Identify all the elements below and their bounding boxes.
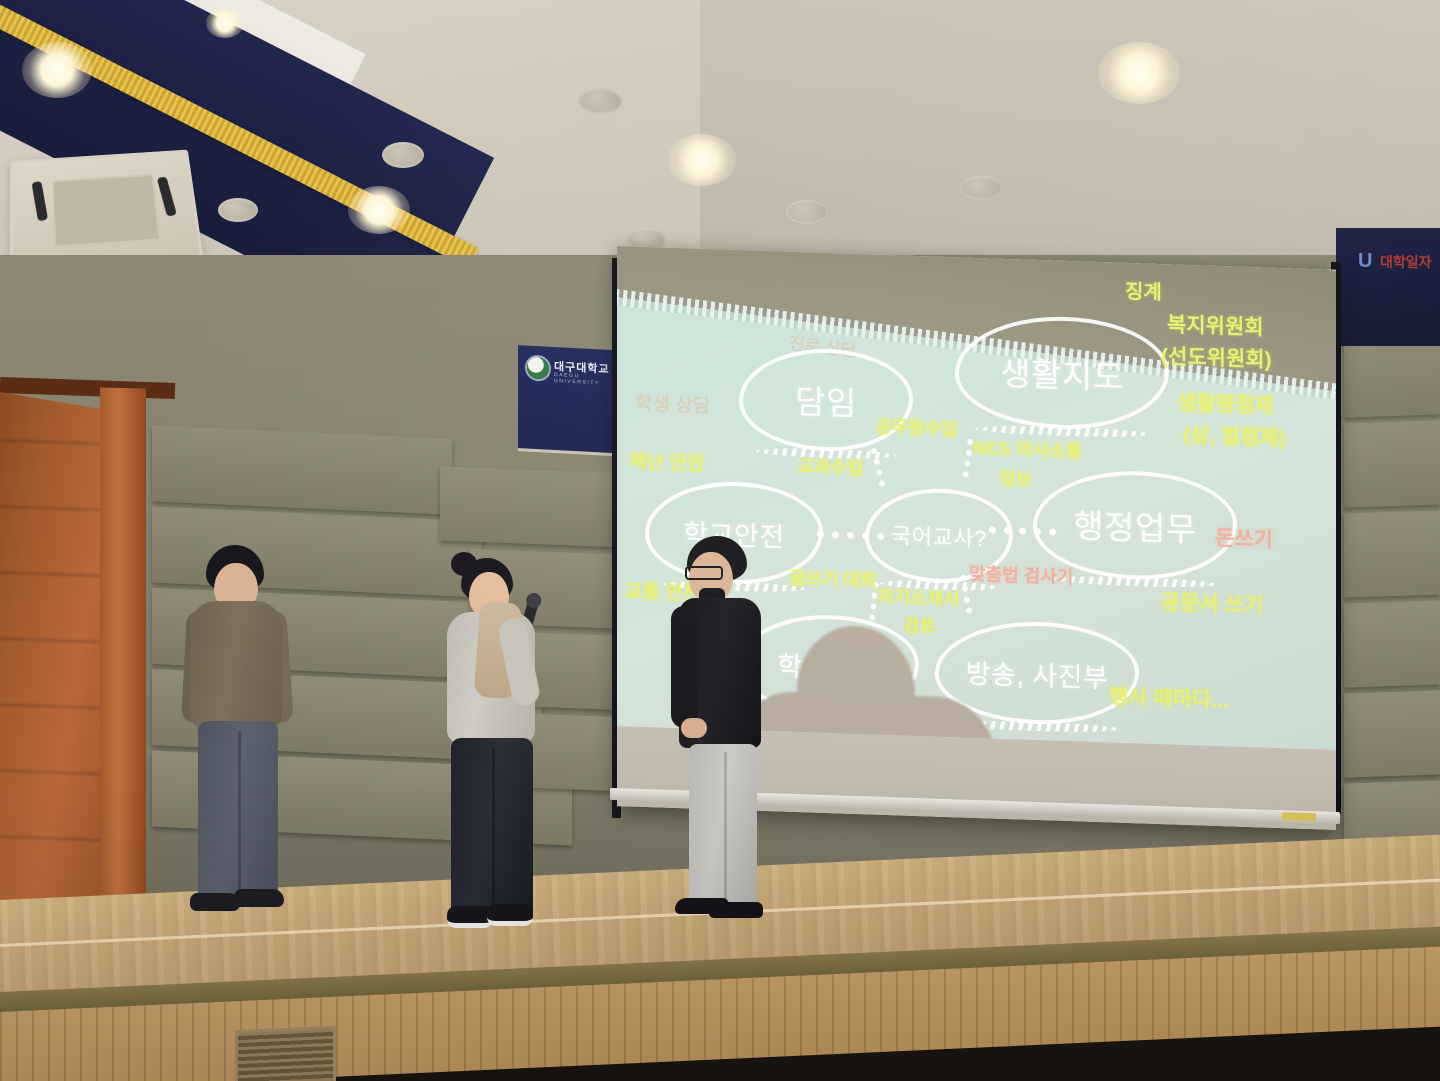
ceiling-speaker: [382, 142, 424, 168]
u-logo-icon: U: [1358, 250, 1372, 273]
bubble-label: 행정업무: [1073, 499, 1196, 551]
shoe-right: [234, 889, 284, 907]
wall-panel: [152, 425, 452, 515]
wall-panel: [1344, 420, 1440, 507]
presenter-left: [190, 545, 290, 925]
slide-note-jaenan-anjeon: 재난 안전: [629, 446, 704, 475]
ceiling-speaker: [578, 88, 622, 114]
light-jeans: [689, 744, 757, 906]
connector-dotted-horizontal: [817, 531, 884, 540]
ceiling-speaker: [960, 176, 1002, 200]
bubble-label: 방송, 사진부: [966, 651, 1109, 695]
bubble-label: 담임: [795, 375, 857, 425]
banner-right-title: 대학일자: [1380, 252, 1432, 272]
wall-panel: [1344, 510, 1440, 597]
slide-note-bokji-wiwonhoe: 복지위원회: [1167, 308, 1264, 341]
cargo-pants: [451, 738, 533, 920]
slide-note-jagisogaeseo: 자기소개서: [877, 583, 960, 612]
auditorium-photo: 대구대학교 DAEGU UNIVERSITY U 대학일자 진로 상담 학생 상…: [0, 0, 1440, 1081]
sweater-torso: [190, 601, 282, 729]
recessed-downlight: [348, 186, 410, 234]
ceiling-ac-unit: [10, 150, 204, 273]
recessed-downlight: [22, 42, 92, 98]
ceiling-speaker: [218, 198, 258, 222]
connector-dotted-vertical: [869, 443, 887, 492]
slide-note-geulsseugi-daehoe: 글쓰기 대회: [789, 564, 877, 593]
shoe-right: [709, 902, 763, 918]
bubble-label: 국어교사?: [891, 518, 987, 553]
slide-note-haengsa-ttaemada: 행사 때마다...: [1109, 680, 1229, 714]
slide-note-donsseugi: 돈쓰기: [1215, 522, 1273, 554]
slide-note-seondo-wiwonhoe: (선도위원회): [1161, 340, 1272, 374]
slide-note-gyogwa-sueop: 교과수업: [797, 452, 863, 480]
wall-panel: [1344, 690, 1440, 777]
presenter-center: [443, 556, 543, 926]
glasses-icon: [685, 566, 723, 580]
ceiling-speaker: [786, 200, 828, 224]
wall-panel: [440, 466, 630, 547]
slide-note-ncs-communication: NCS 의사소통: [973, 434, 1082, 464]
slide-note-jinggye: 징계: [1125, 275, 1162, 305]
university-logo-icon: [527, 357, 549, 380]
slide-note-sang-beoljeomje: (상, 벌점제): [1183, 419, 1286, 452]
recessed-downlight: [206, 8, 244, 38]
arm-left: [671, 606, 697, 728]
slide-note-saenghwal-pyeongjeomje: 생활평점제: [1177, 387, 1274, 420]
bubble-label: 생활지도: [1000, 347, 1123, 399]
banner-right: U 대학일자: [1336, 228, 1440, 346]
slide-note-matchumbeop-geomsagi: 맞춤법 검사기: [969, 560, 1073, 589]
slide-note-geomto: 검토: [903, 612, 936, 639]
stage-vent-grille: [235, 1026, 336, 1081]
recessed-downlight: [1098, 42, 1180, 104]
slide-note-jeongbo: 정보: [999, 465, 1032, 492]
slide-note-gongmuwon-sueop: 공무원수업: [875, 413, 958, 442]
clasped-hands: [681, 718, 707, 738]
shoe-left: [190, 893, 240, 911]
presenter-right: [673, 536, 773, 928]
wood-column: [100, 388, 146, 919]
wall-panel: [1344, 600, 1440, 687]
slide-note-gongmunseo-sseugi: 공문서 쓰기: [1161, 586, 1263, 619]
jeans: [198, 721, 278, 905]
recessed-downlight: [668, 134, 736, 186]
slide-note-student-counseling: 학생 상담: [635, 389, 710, 418]
ceiling-right-plane: [700, 0, 1440, 275]
shoe-right: [487, 904, 533, 926]
